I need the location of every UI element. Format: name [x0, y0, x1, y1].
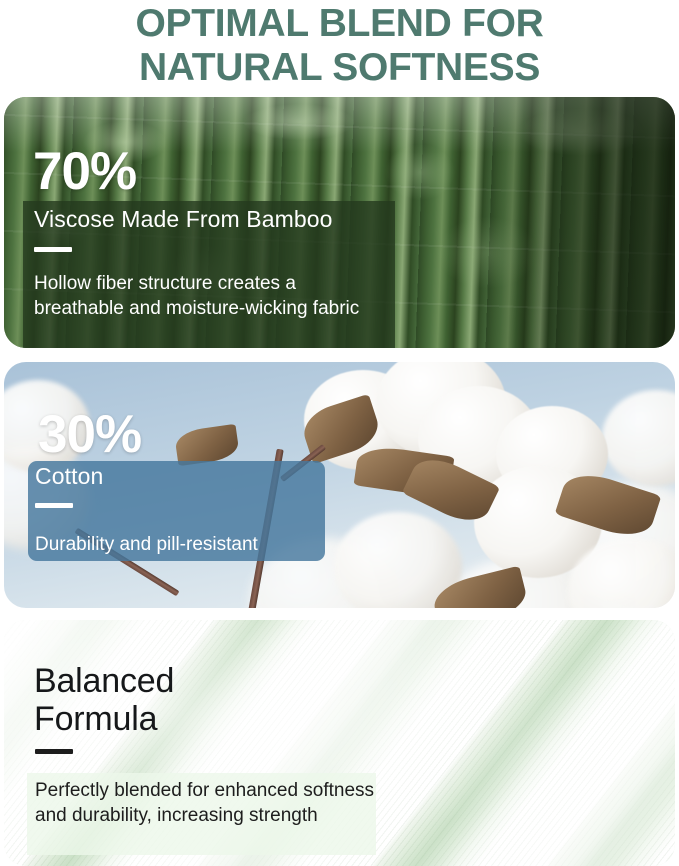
page-title: OPTIMAL BLEND FOR NATURAL SOFTNESS	[0, 0, 679, 92]
balanced-formula-headline-line-1: Balanced	[34, 662, 174, 700]
page-title-line-2: NATURAL SOFTNESS	[139, 46, 540, 90]
panel-cotton: 30% Cotton Durability and pill-resistant	[4, 362, 675, 608]
bamboo-percent: 70%	[33, 145, 136, 198]
panel-balanced-formula: Balanced Formula Perfectly blended for e…	[4, 620, 675, 866]
bamboo-divider-dash	[34, 247, 72, 252]
panel-bamboo-viscose: 70% Viscose Made From Bamboo Hollow fibe…	[4, 97, 675, 348]
page-title-line-1: OPTIMAL BLEND FOR	[136, 2, 544, 46]
balanced-formula-description: Perfectly blended for enhanced softness …	[35, 778, 375, 828]
bamboo-description: Hollow fiber structure creates a breatha…	[34, 271, 384, 321]
infographic-page: OPTIMAL BLEND FOR NATURAL SOFTNESS 70% V…	[0, 0, 679, 866]
balanced-formula-headline-line-2: Formula	[34, 700, 157, 738]
cotton-description: Durability and pill-resistant	[35, 532, 325, 557]
cotton-percent: 30%	[38, 408, 141, 461]
cotton-divider-dash	[35, 503, 73, 508]
balanced-formula-divider-dash	[35, 749, 73, 754]
bamboo-material-label: Viscose Made From Bamboo	[34, 206, 333, 233]
cotton-material-label: Cotton	[35, 463, 103, 490]
